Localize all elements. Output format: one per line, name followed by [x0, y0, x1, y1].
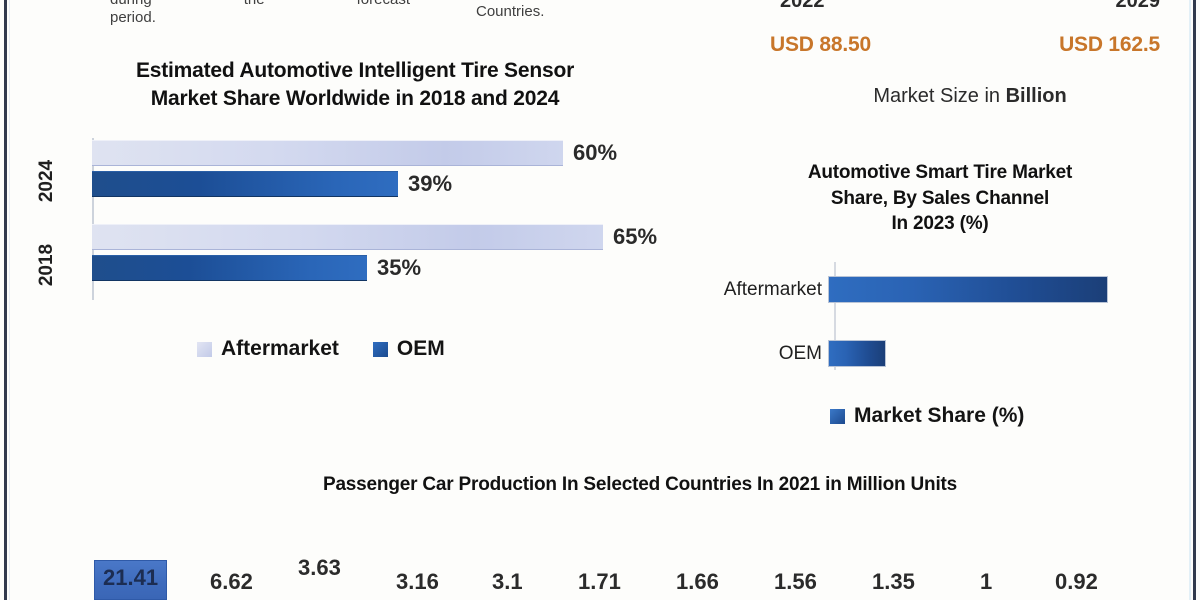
- legend-label-oem: OEM: [397, 337, 445, 361]
- bottom-chart-item-0[interactable]: 21.41: [94, 560, 167, 600]
- legend-label-aftermarket: Aftermarket: [221, 337, 339, 361]
- bar-value-aftermarket-2024: 60%: [573, 140, 617, 166]
- right-chart-title-line3: In 2023 (%): [740, 211, 1140, 237]
- legend-swatch-market-share-icon: [830, 409, 845, 424]
- body-copy-word-during: during: [110, 0, 152, 8]
- bottom-chart-item-3[interactable]: 3.16: [396, 571, 439, 594]
- left-chart-group-2018: 65% 35%: [92, 224, 603, 286]
- bar-aftermarket-2018[interactable]: 65%: [92, 224, 603, 250]
- bar-oem-2018[interactable]: 35%: [92, 255, 367, 281]
- legend-item-oem[interactable]: OEM: [373, 337, 445, 361]
- page-left-border: [4, 0, 7, 600]
- bottom-chart-item-1[interactable]: 6.62: [210, 571, 253, 594]
- bottom-chart-value-8: 1.35: [872, 569, 915, 594]
- left-chart-category-label-2024: 2024: [36, 151, 58, 211]
- right-chart-legend[interactable]: Market Share (%): [830, 404, 1024, 428]
- bottom-chart-value-10: 0.92: [1055, 569, 1098, 594]
- bottom-chart-item-5[interactable]: 1.71: [578, 571, 621, 594]
- bottom-chart-item-8[interactable]: 1.35: [872, 571, 915, 594]
- report-page: during the forecast period. Countries. 2…: [0, 0, 1200, 600]
- right-chart-row-oem: OEM: [700, 340, 1180, 367]
- page-left-border-inner: [9, 0, 10, 600]
- bottom-chart-value-2: 3.63: [298, 555, 341, 580]
- bar-value-oem-2024: 39%: [408, 171, 452, 197]
- bottom-chart-label-track: 21.41 6.62 3.63 3.16 3.1 1.71 1.66 1.56: [60, 536, 1160, 600]
- page-right-border: [1193, 0, 1196, 600]
- bottom-chart-item-9[interactable]: 1: [980, 571, 992, 594]
- bar-market-share-aftermarket[interactable]: [828, 276, 1108, 303]
- left-chart-title: Estimated Automotive Intelligent Tire Se…: [60, 57, 650, 114]
- bottom-chart-item-7[interactable]: 1.56: [774, 571, 817, 594]
- bar-market-share-oem[interactable]: [828, 340, 886, 367]
- bottom-bar-chart: 21.41 6.62 3.63 3.16 3.1 1.71 1.66 1.56: [60, 536, 1160, 600]
- bottom-chart-item-4[interactable]: 3.1: [492, 571, 523, 594]
- left-chart-group-2024: 60% 39%: [92, 140, 563, 202]
- right-chart-category-oem: OEM: [700, 343, 828, 365]
- bottom-chart-title: Passenger Car Production In Selected Cou…: [150, 472, 1130, 498]
- bottom-chart-item-2[interactable]: 3.63: [298, 557, 341, 580]
- bottom-chart-value-5: 1.71: [578, 569, 621, 594]
- market-size-year-end: 2029: [1116, 0, 1161, 13]
- market-size-years: 2022 2029: [780, 0, 1160, 13]
- market-size-values: USD 88.50 USD 162.5: [770, 33, 1160, 57]
- bottom-chart-value-9: 1: [980, 569, 992, 594]
- legend-swatch-aftermarket-icon: [197, 342, 212, 357]
- body-copy-word-the: the: [244, 0, 265, 8]
- left-chart-legend: Aftermarket OEM: [197, 337, 445, 361]
- bottom-chart-item-10[interactable]: 0.92: [1055, 571, 1098, 594]
- left-bar-chart: 2024 2018 60% 39% 65% 35% Aftermarket: [22, 132, 662, 372]
- right-bar-chart: Aftermarket OEM Market Share (%): [700, 262, 1180, 442]
- body-copy-fragment-period: period.: [110, 9, 156, 26]
- market-size-value-end: USD 162.5: [1059, 33, 1160, 57]
- market-size-caption: Market Size in Billion: [770, 85, 1170, 108]
- bottom-chart-item-6[interactable]: 1.66: [676, 571, 719, 594]
- bottom-chart-value-4: 3.1: [492, 569, 523, 594]
- legend-label-market-share: Market Share (%): [854, 404, 1024, 428]
- bottom-chart-value-3: 3.16: [396, 569, 439, 594]
- bar-oem-2024[interactable]: 39%: [92, 171, 398, 197]
- bottom-chart-value-7: 1.56: [774, 569, 817, 594]
- right-chart-row-aftermarket: Aftermarket: [700, 276, 1180, 303]
- bottom-chart-value-6: 1.66: [676, 569, 719, 594]
- body-copy-fragment-line1: during the forecast: [110, 0, 410, 8]
- market-size-caption-prefix: Market Size in: [873, 85, 1005, 107]
- body-copy-fragment-countries: Countries.: [476, 3, 544, 20]
- market-size-year-start: 2022: [780, 0, 825, 13]
- left-chart-title-line1: Estimated Automotive Intelligent Tire Se…: [60, 57, 650, 85]
- legend-item-aftermarket[interactable]: Aftermarket: [197, 337, 339, 361]
- legend-swatch-oem-icon: [373, 342, 388, 357]
- market-size-value-start: USD 88.50: [770, 33, 871, 57]
- market-size-caption-unit: Billion: [1006, 85, 1067, 107]
- bottom-chart-value-1: 6.62: [210, 569, 253, 594]
- left-chart-title-line2: Market Share Worldwide in 2018 and 2024: [60, 85, 650, 113]
- right-chart-category-aftermarket: Aftermarket: [700, 279, 828, 301]
- right-chart-title-line1: Automotive Smart Tire Market: [740, 160, 1140, 186]
- right-chart-title-line2: Share, By Sales Channel: [740, 186, 1140, 212]
- body-copy-word-forecast: forecast: [357, 0, 410, 8]
- page-right-border-inner: [1189, 0, 1191, 600]
- right-chart-title: Automotive Smart Tire Market Share, By S…: [740, 160, 1140, 237]
- bar-value-oem-2018: 35%: [377, 255, 421, 281]
- bottom-chart-value-0: 21.41: [94, 560, 167, 600]
- left-chart-category-label-2018: 2018: [36, 235, 58, 295]
- bar-aftermarket-2024[interactable]: 60%: [92, 140, 563, 166]
- bar-value-aftermarket-2018: 65%: [613, 224, 657, 250]
